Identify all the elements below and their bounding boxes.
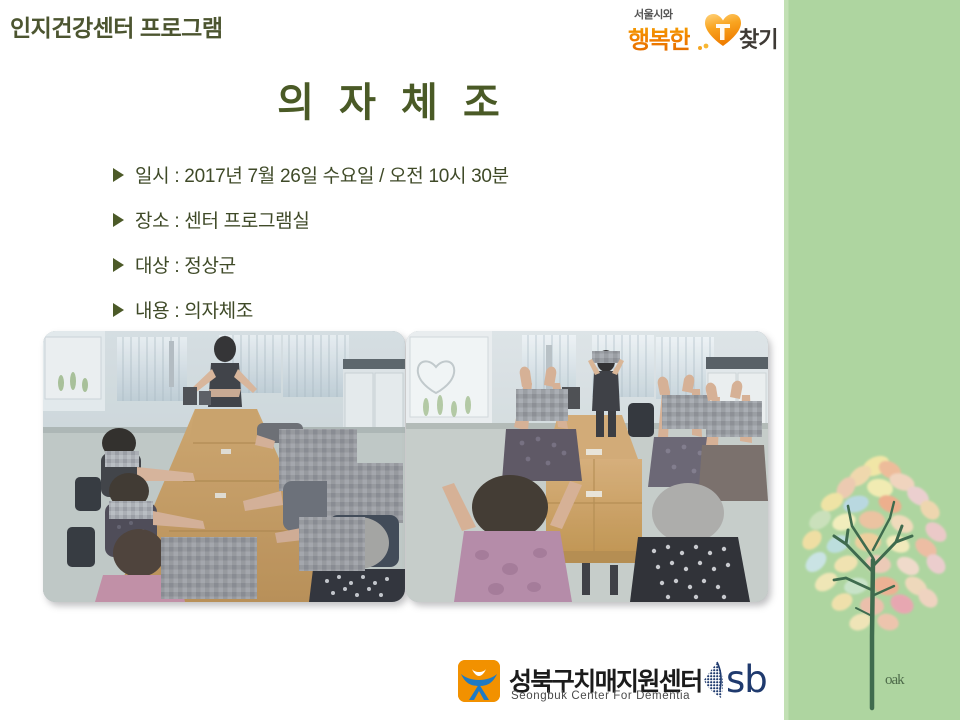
watercolor-tree-icon: [790, 440, 958, 712]
seoul-happy-brand-logo: 서울시와 행복한 찾기: [626, 6, 782, 52]
list-item-text: 내용 : 의자체조: [135, 296, 253, 323]
sb-monogram: sb: [726, 658, 767, 701]
info-list: 일시 : 2017년 7월 26일 수요일 / 오전 10시 30분 장소 : …: [113, 152, 753, 332]
list-item-text: 장소 : 센터 프로그램실: [135, 206, 310, 233]
person-mark-icon: [458, 660, 500, 702]
triangle-bullet-icon: [113, 303, 124, 317]
photo-chair-exercise-arms-up: [406, 331, 768, 602]
list-item: 내용 : 의자체조: [113, 287, 753, 332]
brand-find-text: 찾기: [739, 22, 777, 54]
slide: oak 인지건강센터 프로그램 서울시와 행복한: [0, 0, 960, 720]
list-item: 대상 : 정상군: [113, 242, 753, 287]
seongbuk-dementia-center-logo: 성북구치매지원센터 Seongbuk Center For Dementia s…: [458, 658, 768, 708]
list-item-text: 일시 : 2017년 7월 26일 수요일 / 오전 10시 30분: [135, 161, 509, 188]
triangle-bullet-icon: [113, 213, 124, 227]
photo-chair-exercise-table: [43, 331, 405, 602]
page-header-label: 인지건강센터 프로그램: [10, 9, 223, 43]
tree-signature: oak: [885, 672, 904, 689]
triangle-bullet-icon: [113, 258, 124, 272]
footer-name-en: Seongbuk Center For Dementia: [511, 690, 690, 702]
halftone-triangle-icon: [701, 660, 729, 702]
heart-icon: [704, 13, 742, 47]
list-item: 일시 : 2017년 7월 26일 수요일 / 오전 10시 30분: [113, 152, 753, 197]
list-item: 장소 : 센터 프로그램실: [113, 197, 753, 242]
triangle-bullet-icon: [113, 168, 124, 182]
brand-main-text: 행복한: [628, 20, 690, 55]
list-item-text: 대상 : 정상군: [135, 251, 236, 278]
page-title: 의 자 체 조: [0, 70, 784, 128]
